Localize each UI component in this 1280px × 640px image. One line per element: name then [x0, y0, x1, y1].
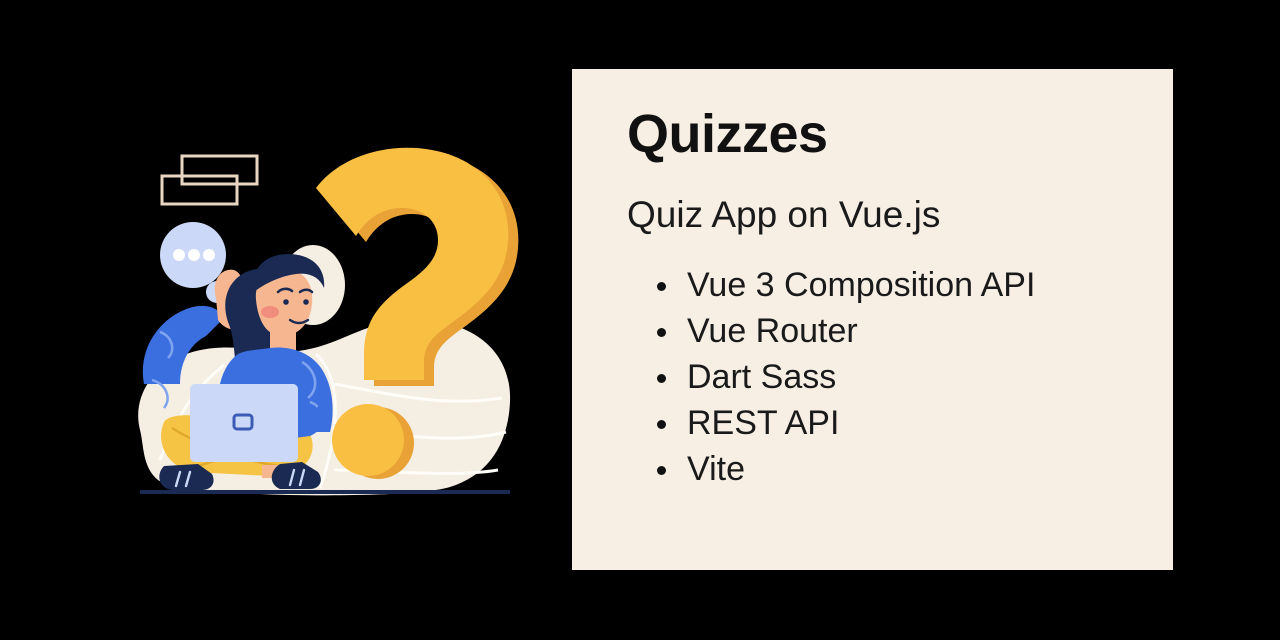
laptop-icon [190, 384, 298, 462]
page-title: Quizzes [627, 105, 1133, 163]
list-item: Vue Router [657, 308, 1133, 354]
person-eye-2 [303, 299, 309, 305]
person-eye [283, 299, 289, 305]
decorative-rectangles-icon [162, 156, 257, 204]
ground-line [140, 490, 510, 494]
list-item: REST API [657, 400, 1133, 446]
list-item: Vite [657, 446, 1133, 492]
page-subtitle: Quiz App on Vue.js [627, 195, 1133, 236]
person-cheek [261, 306, 279, 318]
hero-illustration [120, 140, 520, 505]
feature-list: Vue 3 Composition API Vue Router Dart Sa… [627, 262, 1133, 492]
person-figure [143, 254, 333, 490]
list-item: Dart Sass [657, 354, 1133, 400]
list-item: Vue 3 Composition API [657, 262, 1133, 308]
page-root: Quizzes Quiz App on Vue.js Vue 3 Composi… [0, 0, 1280, 640]
info-card: Quizzes Quiz App on Vue.js Vue 3 Composi… [572, 69, 1173, 570]
illustration-svg [120, 140, 520, 505]
